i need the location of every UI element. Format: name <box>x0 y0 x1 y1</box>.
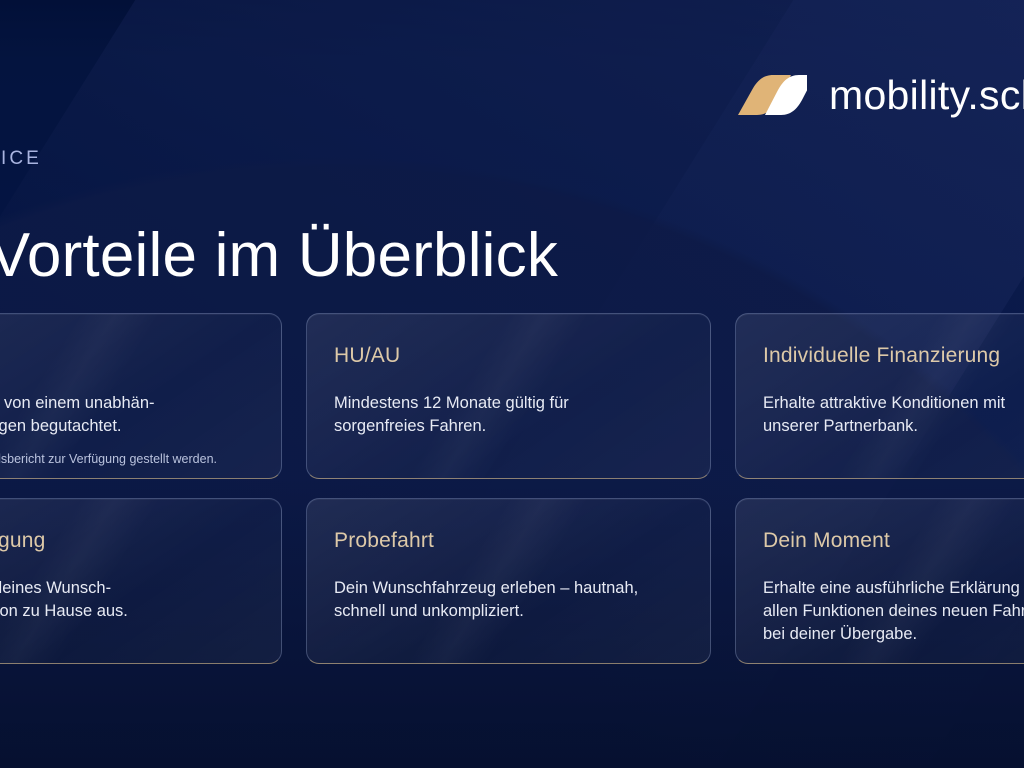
benefit-card-title: e Besichtigung <box>0 529 254 553</box>
brand-logo[interactable]: mobility.sch <box>733 73 1024 117</box>
benefit-card-title: Individuelle Finanzierung <box>763 344 1024 368</box>
benefit-card[interactable]: HU/AU Mindestens 12 Monate gültig für so… <box>306 313 711 479</box>
benefit-card-body: esichtigung deines Wunsch- gs bequem von… <box>0 577 254 623</box>
benefit-card-note: kann ein Zustandsbericht zur Verfügung g… <box>0 451 254 468</box>
benefits-grid: parenz ahrzeug wird von einem unabhän- a… <box>0 313 1024 664</box>
benefit-card-title: Probefahrt <box>334 529 683 553</box>
benefit-card-body: Dein Wunschfahrzeug erleben – hautnah, s… <box>334 577 683 623</box>
benefit-card[interactable]: Dein Moment Erhalte eine ausführliche Er… <box>735 498 1024 664</box>
benefit-card-body: Erhalte eine ausführliche Erklärung zu a… <box>763 577 1024 645</box>
benefit-card[interactable]: Probefahrt Dein Wunschfahrzeug erleben –… <box>306 498 711 664</box>
benefit-card-title: HU/AU <box>334 344 683 368</box>
benefit-card-title: Dein Moment <box>763 529 1024 553</box>
benefit-card-body: Erhalte attraktive Konditionen mit unser… <box>763 392 1024 438</box>
section-eyebrow: UM-SERVICE <box>0 148 42 170</box>
benefit-card[interactable]: Individuelle Finanzierung Erhalte attrak… <box>735 313 1024 479</box>
benefit-card-body: Mindestens 12 Monate gültig für sorgenfr… <box>334 392 683 438</box>
brand-wordmark: mobility.sch <box>829 75 1024 116</box>
slide-canvas: mobility.sch UM-SERVICE ine Vorteile im … <box>0 0 1024 768</box>
page-title: ine Vorteile im Überblick <box>0 221 558 290</box>
benefit-card[interactable]: e Besichtigung esichtigung deines Wunsch… <box>0 498 282 664</box>
benefit-card[interactable]: parenz ahrzeug wird von einem unabhän- a… <box>0 313 282 479</box>
benefit-card-title: parenz <box>0 344 254 368</box>
benefit-card-body: ahrzeug wird von einem unabhän- achverst… <box>0 392 254 438</box>
mobility-swoosh-logo-icon <box>733 73 807 117</box>
